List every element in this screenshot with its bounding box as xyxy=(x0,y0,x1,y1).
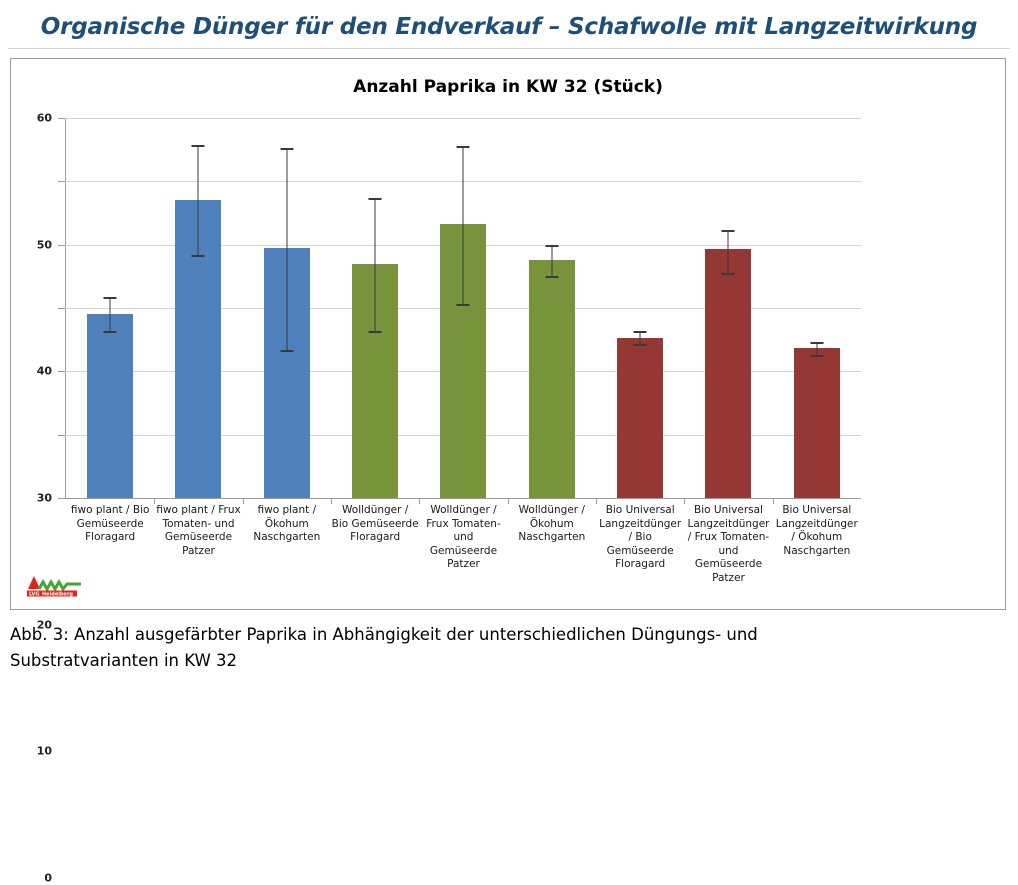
error-bar-cap-upper xyxy=(104,297,117,299)
x-axis-label-8: Bio UniversalLangzeitdünger/ Frux Tomate… xyxy=(684,499,772,585)
svg-text:Heidelberg: Heidelberg xyxy=(42,592,73,598)
x-axis-label-line: und xyxy=(684,545,772,559)
x-axis-label-line: Patzer xyxy=(419,558,507,572)
error-bar-cap-upper xyxy=(457,146,470,148)
x-axis-label-line: und xyxy=(419,531,507,545)
x-axis-label-line: Gemüseerde xyxy=(66,518,154,532)
x-axis-label-9: Bio UniversalLangzeitdünger/ ÖkohumNasch… xyxy=(773,499,861,558)
x-axis-label-line: Wolldünger / xyxy=(419,504,507,518)
x-axis-label-line: Langzeitdünger xyxy=(773,518,861,532)
error-bar-cap-lower xyxy=(457,304,470,306)
x-axis-label-line: Gemüseerde xyxy=(154,531,242,545)
error-bar-cap-lower xyxy=(192,255,205,257)
y-tick-30: 30 xyxy=(58,308,65,309)
error-bar-cap-upper xyxy=(369,198,382,200)
x-axis-label-line: Bio Gemüseerde xyxy=(331,518,419,532)
bar-group-5[interactable] xyxy=(419,118,507,498)
error-bar-cap-upper xyxy=(810,342,823,344)
error-bar-line xyxy=(551,245,552,277)
y-axis-label-0: 0 xyxy=(44,872,52,885)
x-axis-label-line: Naschgarten xyxy=(243,531,331,545)
x-axis-label-3: fiwo plant /ÖkohumNaschgarten xyxy=(243,499,331,545)
caption-line-2: Substratvarianten in KW 32 xyxy=(10,648,1006,674)
x-axis-label-line: / Ökohum xyxy=(773,531,861,545)
x-axis-label-line: Gemüseerde xyxy=(684,558,772,572)
y-axis-label-50: 50 xyxy=(37,238,52,251)
x-axis-label-line: Patzer xyxy=(154,545,242,559)
error-bar-cap-lower xyxy=(810,355,823,357)
error-bar-cap-upper xyxy=(280,148,293,150)
x-axis-tick-8 xyxy=(773,499,774,504)
x-axis-label-line: / Bio xyxy=(596,531,684,545)
error-bar-line xyxy=(728,230,729,273)
bar-group-8[interactable] xyxy=(684,118,772,498)
bar[interactable] xyxy=(87,314,133,498)
x-axis-label-1: fiwo plant / BioGemüseerdeFloragard xyxy=(66,499,154,545)
x-axis-label-line: Ökohum xyxy=(508,518,596,532)
error-bar-cap-lower xyxy=(280,350,293,352)
bar[interactable] xyxy=(529,260,575,498)
error-bar-line xyxy=(110,297,111,332)
x-axis-tick-3 xyxy=(331,499,332,504)
y-axis-label-40: 40 xyxy=(37,365,52,378)
x-axis-tick-5 xyxy=(508,499,509,504)
x-axis-label-line: Floragard xyxy=(331,531,419,545)
bar-group-4[interactable] xyxy=(331,118,419,498)
x-axis-label-7: Bio UniversalLangzeitdünger/ BioGemüseer… xyxy=(596,499,684,572)
x-axis-label-line: Patzer xyxy=(684,572,772,586)
chart-title: Anzahl Paprika in KW 32 (Stück) xyxy=(11,77,1005,97)
y-tick-60: 60 xyxy=(58,118,65,119)
x-axis-label-line: Ökohum xyxy=(243,518,331,532)
x-axis-label-6: Wolldünger /ÖkohumNaschgarten xyxy=(508,499,596,545)
plot-area: 0102030405060 xyxy=(56,118,861,498)
bar-group-2[interactable] xyxy=(154,118,242,498)
y-tick-40: 40 xyxy=(58,245,65,246)
figure-caption: Abb. 3: Anzahl ausgefärbter Paprika in A… xyxy=(10,622,1006,674)
header-divider xyxy=(8,48,1010,49)
error-bar-cap-upper xyxy=(545,245,558,247)
error-bar-cap-upper xyxy=(192,145,205,147)
bars-layer xyxy=(66,118,861,498)
error-bar-cap-upper xyxy=(634,331,647,333)
x-axis-label-line: Floragard xyxy=(596,558,684,572)
error-bar-cap-lower xyxy=(545,276,558,278)
x-axis-label-line: Langzeitdünger xyxy=(596,518,684,532)
x-axis-label-4: Wolldünger /Bio GemüseerdeFloragard xyxy=(331,499,419,545)
bar-group-6[interactable] xyxy=(508,118,596,498)
x-axis-label-line: fiwo plant / xyxy=(243,504,331,518)
bar[interactable] xyxy=(794,348,840,498)
bar[interactable] xyxy=(705,249,751,498)
x-axis-label-line: fiwo plant / Bio xyxy=(66,504,154,518)
x-axis-label-line: Gemüseerde xyxy=(419,545,507,559)
error-bar-line xyxy=(463,146,464,304)
y-axis-label-30: 30 xyxy=(37,492,52,505)
x-axis-tick-6 xyxy=(596,499,597,504)
error-bar-line xyxy=(375,198,376,331)
y-axis-label-10: 10 xyxy=(37,745,52,758)
error-bar-line xyxy=(198,145,199,255)
x-axis-tick-1 xyxy=(154,499,155,504)
x-axis-tick-7 xyxy=(684,499,685,504)
bar-group-1[interactable] xyxy=(66,118,154,498)
x-axis-label-line: Tomaten- und xyxy=(154,518,242,532)
x-axis-label-line: fiwo plant / Frux xyxy=(154,504,242,518)
error-bar-cap-lower xyxy=(369,331,382,333)
bar[interactable] xyxy=(617,338,663,498)
bar-group-3[interactable] xyxy=(243,118,331,498)
y-tick-0: 0 xyxy=(58,498,65,499)
x-axis-label-5: Wolldünger /Frux Tomaten-undGemüseerdePa… xyxy=(419,499,507,572)
x-axis-label-line: Bio Universal xyxy=(684,504,772,518)
y-tick-20: 20 xyxy=(58,371,65,372)
svg-text:LVG: LVG xyxy=(29,592,39,598)
error-bar-cap-lower xyxy=(722,273,735,275)
bar-group-9[interactable] xyxy=(773,118,861,498)
page-title: Organische Dünger für den Endverkauf – S… xyxy=(0,0,1018,40)
x-axis-label-line: / Frux Tomaten- xyxy=(684,531,772,545)
lvg-heidelberg-logo: LVG Heidelberg xyxy=(25,573,83,599)
x-axis-label-line: Bio Universal xyxy=(596,504,684,518)
x-axis-label-2: fiwo plant / FruxTomaten- undGemüseerdeP… xyxy=(154,499,242,558)
category-axis-labels: fiwo plant / BioGemüseerdeFloragardfiwo … xyxy=(66,499,861,599)
bar-group-7[interactable] xyxy=(596,118,684,498)
error-bar-cap-lower xyxy=(634,344,647,346)
error-bar-line xyxy=(286,148,287,351)
x-axis-tick-4 xyxy=(419,499,420,504)
error-bar-cap-upper xyxy=(722,230,735,232)
caption-line-1: Abb. 3: Anzahl ausgefärbter Paprika in A… xyxy=(10,622,1006,648)
x-axis-label-line: Frux Tomaten- xyxy=(419,518,507,532)
y-axis-label-60: 60 xyxy=(37,112,52,125)
x-axis-label-line: Wolldünger / xyxy=(508,504,596,518)
y-tick-10: 10 xyxy=(58,435,65,436)
error-bar-cap-lower xyxy=(104,331,117,333)
figure-container: Anzahl Paprika in KW 32 (Stück) 01020304… xyxy=(10,58,1006,610)
x-axis-label-line: Langzeitdünger xyxy=(684,518,772,532)
x-axis-tick-2 xyxy=(243,499,244,504)
y-tick-50: 50 xyxy=(58,181,65,182)
x-axis-label-line: Naschgarten xyxy=(508,531,596,545)
x-axis-label-line: Floragard xyxy=(66,531,154,545)
x-axis-label-line: Bio Universal xyxy=(773,504,861,518)
x-axis-label-line: Naschgarten xyxy=(773,545,861,559)
x-axis-label-line: Wolldünger / xyxy=(331,504,419,518)
x-axis-label-line: Gemüseerde xyxy=(596,545,684,559)
